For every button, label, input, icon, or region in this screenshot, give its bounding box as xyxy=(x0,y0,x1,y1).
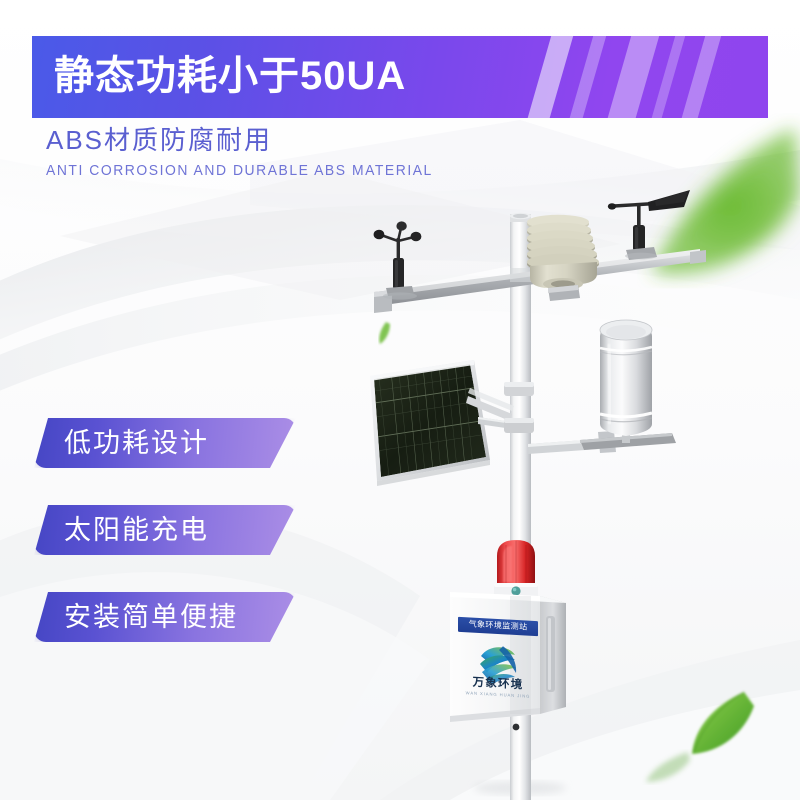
product-marketing-image: 气象环境监测站 万象环境 WAN XIANG HUAN JING 静态功耗小于5… xyxy=(0,0,800,800)
product-illustration xyxy=(0,0,800,800)
feature-badge-low-power: 低功耗设计 xyxy=(34,418,296,468)
anemometer-cup xyxy=(396,221,406,230)
feature-badge-solar-charging: 太阳能充电 xyxy=(34,505,296,555)
subtitle-cn: ABS材质防腐耐用 xyxy=(46,126,272,156)
solar-panel-icon xyxy=(368,352,534,488)
subtitle-en: ANTI CORROSION AND DURABLE ABS MATERIAL xyxy=(46,163,433,179)
feature-badge-label: 安装简单便捷 xyxy=(64,604,238,631)
radiation-shield-icon xyxy=(527,215,599,301)
control-box-plate-label: 气象环境监测站 xyxy=(469,621,528,632)
beacon-indicator-dot xyxy=(511,586,520,595)
anemometer-cup xyxy=(374,230,385,240)
mast-cable-hole-lower xyxy=(513,724,520,731)
alarm-beacon-icon xyxy=(494,540,538,598)
anemometer-cup xyxy=(411,232,422,242)
banner-stripe xyxy=(518,36,580,118)
header-banner: 静态功耗小于50UA xyxy=(32,36,768,118)
weather-station-graphic xyxy=(0,0,800,800)
wind-vane-icon xyxy=(608,190,690,260)
banner-title: 静态功耗小于50UA xyxy=(54,56,406,96)
feature-badge-label: 太阳能充电 xyxy=(64,517,209,544)
feature-badge-label: 低功耗设计 xyxy=(64,430,209,457)
control-box xyxy=(450,592,566,722)
rain-gauge-icon xyxy=(528,320,676,454)
feature-badge-easy-install: 安装简单便捷 xyxy=(34,592,296,642)
